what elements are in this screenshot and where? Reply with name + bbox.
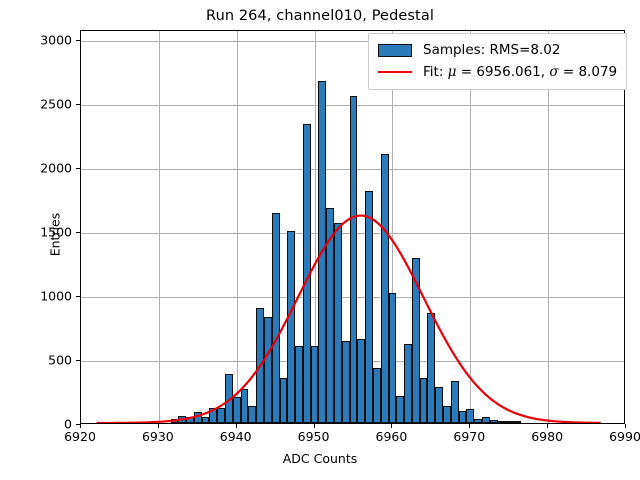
- y-tick-mark: [76, 104, 80, 105]
- legend: Samples: RMS=8.02 Fit: μ = 6956.061, σ =…: [368, 33, 627, 90]
- y-tick-mark: [76, 360, 80, 361]
- y-tick-label: 2000: [40, 161, 72, 176]
- y-tick-label: 500: [48, 353, 72, 368]
- x-tick-label: 6980: [531, 429, 563, 444]
- legend-item-fit: Fit: μ = 6956.061, σ = 8.079: [378, 61, 617, 83]
- x-tick-mark: [314, 424, 315, 428]
- legend-patch-icon: [378, 44, 412, 57]
- x-tick-label: 6970: [453, 429, 485, 444]
- x-tick-mark: [469, 424, 470, 428]
- x-tick-mark: [158, 424, 159, 428]
- legend-fit-sigma-symbol: σ: [549, 64, 558, 80]
- legend-label-samples: Samples: RMS=8.02: [423, 42, 560, 58]
- x-tick-mark: [80, 424, 81, 428]
- x-tick-label: 6930: [142, 429, 174, 444]
- legend-label-fit: Fit: μ = 6956.061, σ = 8.079: [423, 64, 617, 80]
- x-axis-label: ADC Counts: [0, 451, 640, 466]
- legend-item-samples: Samples: RMS=8.02: [378, 39, 617, 61]
- y-axis-label: Entries: [48, 175, 63, 295]
- x-tick-label: 6920: [64, 429, 96, 444]
- y-tick-label: 3000: [40, 33, 72, 48]
- legend-fit-sigma-value: = 8.079: [559, 64, 618, 80]
- y-tick-mark: [76, 424, 80, 425]
- histogram-figure: Run 264, channel010, Pedestal 0500100015…: [0, 0, 640, 480]
- legend-fit-prefix: Fit:: [423, 64, 448, 80]
- x-tick-label: 6960: [376, 429, 408, 444]
- x-tick-label: 6950: [298, 429, 330, 444]
- y-tick-mark: [76, 168, 80, 169]
- y-tick-mark: [76, 232, 80, 233]
- chart-title: Run 264, channel010, Pedestal: [0, 8, 640, 24]
- x-tick-mark: [391, 424, 392, 428]
- x-tick-mark: [625, 424, 626, 428]
- y-tick-mark: [76, 40, 80, 41]
- legend-line-icon: [378, 71, 412, 73]
- x-tick-label: 6940: [220, 429, 252, 444]
- x-tick-mark: [236, 424, 237, 428]
- y-tick-mark: [76, 296, 80, 297]
- x-tick-mark: [547, 424, 548, 428]
- y-tick-label: 2500: [40, 97, 72, 112]
- x-tick-label: 6990: [609, 429, 640, 444]
- legend-fit-mu-value: = 6956.061,: [456, 64, 549, 80]
